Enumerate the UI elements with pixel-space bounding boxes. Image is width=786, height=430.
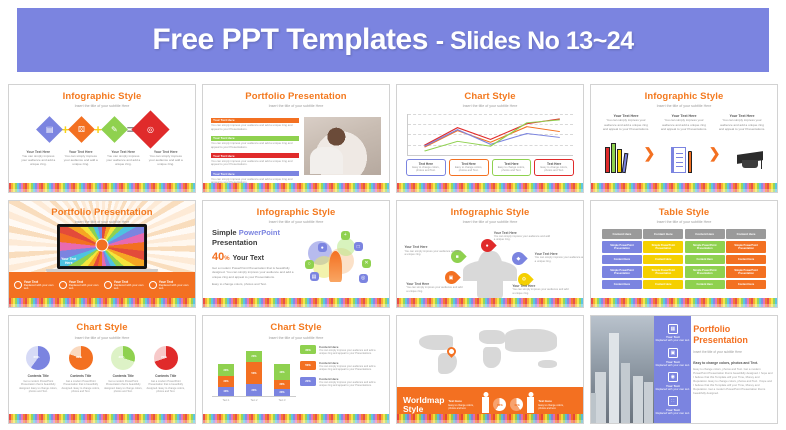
- slide-6-title: Infographic Style: [209, 208, 383, 218]
- slide-1-subtitle: Insert the title of your subtitle Here: [15, 104, 189, 108]
- grid-icon: ▦: [668, 324, 678, 334]
- pencil-strip: [203, 414, 389, 423]
- notepad-marker-icon: [671, 147, 692, 173]
- chart-box-2: Text Here Easy to change colors, photos …: [449, 159, 489, 176]
- table-header-cell: Content Here: [602, 229, 642, 239]
- rocket-icon: [329, 251, 342, 283]
- table-cell: Simple PowerPoint Presentation: [685, 266, 725, 278]
- worldmap-left-text: Text HereEasy to change colors, photos a…: [448, 400, 478, 410]
- target-icon: ◎: [132, 110, 170, 148]
- slide-9-title: Chart Style: [15, 323, 189, 333]
- portfolio-bar-2-body: You can simply impress your audience and…: [211, 142, 299, 149]
- slide-thumbnail-2[interactable]: Portfolio Presentation Insert the title …: [202, 84, 390, 193]
- donut-chart-left: 60%: [493, 398, 506, 411]
- column-2: Your Text Here You can simply impress yo…: [660, 114, 709, 131]
- chart-legend: 30% Content HereYou can simply impress y…: [300, 345, 380, 402]
- pie-chart-4: 70%: [154, 346, 178, 370]
- slide-4-subtitle: Insert the title of your subtitle Here: [597, 104, 771, 108]
- pencil-strip: [9, 414, 195, 423]
- slide-thumbnail-10[interactable]: Chart Style Insert the title of your sub…: [202, 315, 390, 424]
- books-icon: [605, 143, 627, 173]
- chevron-right-icon-2: ❯: [709, 145, 721, 162]
- chart-box-4: Text Here Easy to change colors, photos …: [534, 159, 574, 176]
- pencil-strip: [591, 183, 777, 192]
- table-cell: Simple PowerPoint Presentation: [643, 241, 683, 253]
- rocket-infographic: + ● □ ○ ✕ ▤ ◎: [298, 228, 380, 286]
- pencil-icon: ✎: [101, 116, 128, 143]
- node-icon-4: ○: [305, 260, 314, 269]
- pencil-strip: [397, 298, 583, 307]
- center-badge-icon: [95, 238, 108, 251]
- pencil-strip: [203, 183, 389, 192]
- slide-thumbnail-7[interactable]: Infographic Style Insert the title of yo…: [396, 200, 584, 309]
- node-icon-7: ◎: [359, 274, 368, 283]
- table-cell: Content Here: [685, 280, 725, 289]
- node-icon-1: +: [341, 231, 350, 240]
- line-chart-svg: [408, 114, 573, 155]
- band-item-4: Your TextReplaced with your own text.: [149, 280, 190, 291]
- stacked-bar-chart: 30% 30% 40% 20% 50% 30% 40%: [212, 345, 296, 397]
- petal-text-yellow: Your Text HereYou can simply impress you…: [512, 284, 570, 295]
- slide-10-subtitle: Insert the title of your subtitle Here: [209, 336, 383, 340]
- male-icon: [482, 397, 489, 413]
- slide-thumbnail-3[interactable]: Chart Style Insert the title of your sub…: [396, 84, 584, 193]
- table-header-cell: Content Here: [726, 229, 766, 239]
- sidebar-item-1[interactable]: ▦ Your TextReplaced with your own text.: [656, 324, 690, 343]
- dice-icon: ⚄: [68, 116, 95, 143]
- slide-thumbnail-4[interactable]: Infographic Style Insert the title of yo…: [590, 84, 778, 193]
- node-icon-6: ▤: [310, 272, 319, 281]
- pie-chart-2: 80%: [69, 346, 93, 370]
- band-item-2: Your TextReplaced with your own text.: [59, 280, 100, 291]
- slide-3-title: Chart Style: [403, 92, 577, 102]
- pie-col-2: 80% Contents Title Get a modern PowerPoi…: [61, 346, 100, 394]
- portfolio-bar-1-body: You can simply impress your audience and…: [211, 124, 299, 131]
- node-icon-3: □: [354, 242, 363, 251]
- column-3: Your Text Here You can simply impress yo…: [718, 114, 767, 131]
- portfolio-bar-list: Your Text Here You can simply impress yo…: [211, 114, 299, 185]
- petal-text-red: Your Text HereYou can simply impress you…: [494, 231, 552, 242]
- pencil-strip: [591, 298, 777, 307]
- banner-title-main: Free PPT Templates: [152, 23, 428, 56]
- book-icon: ▤: [36, 116, 63, 143]
- slide-thumbnail-11[interactable]: Worldmap Style Text HereEasy to change c…: [396, 315, 584, 424]
- caption-1: Your Text Here You can simply impress yo…: [20, 150, 57, 167]
- portfolio-bar-4: Your Text Here: [211, 171, 299, 176]
- chevron-right-icon-1: ❯: [643, 145, 655, 162]
- city-photo: [591, 316, 654, 423]
- slide-4-title: Infographic Style: [597, 92, 771, 102]
- slide-thumbnail-9[interactable]: Chart Style Insert the title of your sub…: [8, 315, 196, 424]
- slide-thumbnail-1[interactable]: Infographic Style Insert the title of yo…: [8, 84, 196, 193]
- footer-text: Easy to change colors, photos and Text.: [212, 282, 298, 286]
- worldmap-right-text: Text HereEasy to change colors, photos a…: [538, 400, 568, 410]
- slide-6-subtitle: Insert the title of your subtitle Here: [209, 220, 383, 224]
- purple-sidebar: ▦ Your TextReplaced with your own text. …: [654, 316, 691, 423]
- table-cell: Simple PowerPoint Presentation: [685, 241, 725, 253]
- laptop-screen-caption: Your Text Here: [59, 257, 78, 265]
- petal-text-green: Your Text HereYou can simply impress you…: [404, 245, 462, 256]
- apps-icon: ∷: [668, 396, 678, 406]
- sidebar-item-4[interactable]: ∷ Your TextReplaced with your own text.: [656, 396, 690, 415]
- caption-3-body: You can simply impress your audience and…: [105, 154, 142, 167]
- slide-12-title: Portfolio Presentation: [693, 324, 773, 346]
- column-1: Your Text Here You can simply impress yo…: [602, 114, 651, 131]
- table-cell: Simple PowerPoint Presentation: [726, 241, 766, 253]
- pencil-strip: [9, 183, 195, 192]
- table-cell: Simple PowerPoint Presentation: [602, 241, 642, 253]
- pie-col-4: 70% Contents Title Get a modern PowerPoi…: [146, 346, 185, 394]
- header-banner: Free PPT Templates - Slides No 13~24: [17, 8, 769, 72]
- slide-3-subtitle: Insert the title of your subtitle Here: [403, 104, 577, 108]
- worldmap-title: Worldmap Style: [403, 396, 444, 415]
- orange-feature-band: Your TextReplaced with your own text. Yo…: [9, 272, 195, 298]
- slide-2-subtitle: Insert the title of your subtitle Here: [209, 104, 383, 108]
- bar-label-row: Text 1 Text 2 Text 3: [212, 397, 296, 402]
- slide-thumbnail-6[interactable]: Infographic Style Insert the title of yo…: [202, 200, 390, 309]
- caption-2: Your Text Here You can simply impress yo…: [62, 150, 99, 167]
- slide-1-title: Infographic Style: [15, 92, 189, 102]
- legend-item-2: 50% Content HereYou can simply impress y…: [300, 361, 380, 372]
- caption-row: Your Text Here You can simply impress yo…: [15, 150, 189, 167]
- percent-headline: 40% Your Text: [212, 251, 298, 263]
- caption-1-body: You can simply impress your audience and…: [20, 154, 57, 167]
- data-table: Content Here Content Here Content Here C…: [602, 229, 766, 288]
- table-cell: Simple PowerPoint Presentation: [602, 266, 642, 278]
- petal-text-purple: Your Text HereYou can simply impress you…: [535, 252, 584, 263]
- slide-8-subtitle: Insert the title of your subtitle Here: [597, 220, 771, 224]
- table-cell: Content Here: [643, 255, 683, 264]
- donut-chart-right: 40%: [510, 398, 523, 411]
- pie-col-3: 30% Contents Title Get a modern PowerPoi…: [104, 346, 143, 394]
- world-map: [397, 316, 583, 386]
- portfolio-photo: [304, 117, 381, 175]
- table-cell: Content Here: [602, 280, 642, 289]
- column-head-row: Your Text Here You can simply impress yo…: [597, 114, 771, 131]
- diamond-row: ▤ + ⚄ + ✎ = ◎: [15, 116, 189, 143]
- table-header-cell: Content Here: [643, 229, 683, 239]
- bar-1: 30% 30% 40%: [218, 364, 235, 396]
- table-cell: Content Here: [726, 255, 766, 264]
- chart-box-1: Text Here Easy to change colors, photos …: [406, 159, 446, 176]
- portfolio-bar-2: Your Text Here: [211, 136, 299, 141]
- slide-9-subtitle: Insert the title of your subtitle Here: [15, 336, 189, 340]
- caption-4-body: You can simply impress your audience and…: [147, 154, 184, 167]
- legend-item-1: 30% Content HereYou can simply impress y…: [300, 345, 380, 356]
- ppt-template-preview-page: Free PPT Templates - Slides No 13~24 Inf…: [0, 0, 786, 430]
- slide-5-title: Portfolio Presentation: [15, 208, 189, 218]
- slide-12-head: Easy to change colors, photos and Text.: [693, 361, 773, 365]
- portfolio-bar-3: Your Text Here: [211, 153, 299, 158]
- banner-title-sub: - Slides No 13~24: [436, 27, 634, 55]
- petal-text-orange: Your Text HereYou can simply impress you…: [406, 282, 464, 293]
- slide-8-title: Table Style: [597, 208, 771, 218]
- circle-icon-4: [149, 281, 157, 289]
- sidebar-item-3[interactable]: ◉ Your TextReplaced with your own text.: [656, 372, 690, 391]
- pencil-strip: [397, 414, 583, 423]
- slide-7-subtitle: Insert the title of your subtitle Here: [403, 220, 577, 224]
- circle-icon-1: [14, 281, 22, 289]
- caption-2-body: You can simply impress your audience and…: [62, 154, 99, 167]
- band-item-1: Your TextReplaced with your own text.: [14, 280, 55, 291]
- slide-2-title: Portfolio Presentation: [209, 92, 383, 102]
- band-item-3: Your TextReplaced with your own text.: [104, 280, 145, 291]
- pencil-strip: [397, 183, 583, 192]
- hand-graphic: [477, 251, 503, 298]
- caption-4: Your Text Here You can simply impress yo…: [147, 150, 184, 167]
- slide-thumbnail-5[interactable]: Portfolio Presentation Insert the title …: [8, 200, 196, 309]
- pie-chart-1: 60%: [26, 346, 50, 370]
- node-icon-2: ●: [318, 243, 327, 252]
- bar-3: 40% 30% 30%: [274, 364, 291, 396]
- laptop-mockup: Your Text Here: [57, 224, 146, 269]
- node-icon-5: ✕: [362, 259, 371, 268]
- table-cell: Content Here: [643, 280, 683, 289]
- slide-thumbnail-grid: Infographic Style Insert the title of yo…: [8, 84, 778, 424]
- caption-3: Your Text Here You can simply impress yo…: [105, 150, 142, 167]
- slide-thumbnail-8[interactable]: Table Style Insert the title of your sub…: [590, 200, 778, 309]
- chart-box-row: Text Here Easy to change colors, photos …: [406, 159, 574, 176]
- table-cell: Content Here: [685, 255, 725, 264]
- pencil-strip: [203, 298, 389, 307]
- slide-12-content: Portfolio Presentation Insert the title …: [693, 324, 773, 395]
- circle-icon-2: [59, 281, 67, 289]
- portfolio-bar-3-body: You can simply impress your audience and…: [211, 160, 299, 167]
- bar-2: 20% 50% 30%: [246, 351, 263, 396]
- table-cell: Content Here: [726, 280, 766, 289]
- table-cell: Simple PowerPoint Presentation: [643, 266, 683, 278]
- slide-10-title: Chart Style: [209, 323, 383, 333]
- slide-12-body: Easy to change colors, photos and Text. …: [693, 367, 773, 395]
- line-chart: [407, 114, 573, 156]
- table-cell: Simple PowerPoint Presentation: [726, 266, 766, 278]
- female-icon: [527, 397, 534, 413]
- graduation-cap-icon: [737, 151, 763, 173]
- camera-icon: ◉: [668, 372, 678, 382]
- pie-col-1: 60% Contents Title Get a modern PowerPoi…: [19, 346, 58, 394]
- sidebar-item-2[interactable]: ▣ Your TextReplaced with your own text.: [656, 348, 690, 367]
- chart-box-3: Text Here Easy to change colors, photos …: [492, 159, 532, 176]
- slide-7-title: Infographic Style: [403, 208, 577, 218]
- slide-12-subtitle: Insert the title of your subtitle Here: [693, 350, 773, 354]
- icon-flow-row: ❯ ❯: [597, 135, 771, 173]
- headline: Simple PowerPoint Presentation: [212, 228, 298, 247]
- monitor-icon: ▣: [668, 348, 678, 358]
- body-text: Get a modern PowerPoint Presentation tha…: [212, 266, 298, 279]
- banner-title: Free PPT Templates - Slides No 13~24: [152, 23, 633, 57]
- pencil-strip: [9, 298, 195, 307]
- table-header-cell: Content Here: [685, 229, 725, 239]
- pie-chart-3: 30%: [111, 346, 135, 370]
- slide-thumbnail-12[interactable]: ▦ Your TextReplaced with your own text. …: [590, 315, 778, 424]
- table-cell: Content Here: [602, 255, 642, 264]
- legend-item-3: 20% Content HereYou can simply impress y…: [300, 377, 380, 388]
- circle-icon-3: [104, 281, 112, 289]
- portfolio-bar-1: Your Text Here: [211, 118, 299, 123]
- pie-chart-row: 60% Contents Title Get a modern PowerPoi…: [15, 346, 189, 394]
